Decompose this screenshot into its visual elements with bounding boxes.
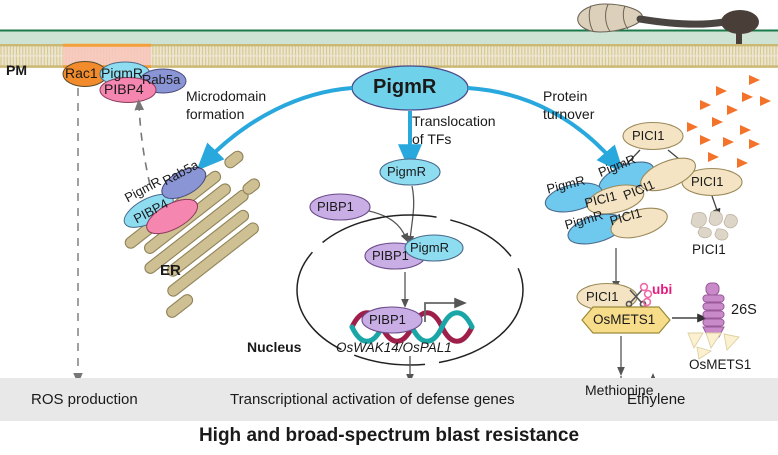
degraded-osmets1-label: OsMETS1 — [689, 357, 751, 372]
cyto-pigmr-label[interactable]: PigmR — [387, 164, 426, 179]
osmets1-label[interactable]: OsMETS1 — [593, 312, 655, 327]
dna-bound-pibp1-label[interactable]: PIBP1 — [369, 312, 406, 327]
nuclear-pigmr-label[interactable]: PigmR — [410, 240, 449, 255]
nuclear-pibp1-label[interactable]: PIBP1 — [372, 248, 409, 263]
bottom-pici1-label[interactable]: PICI1 — [586, 289, 619, 304]
er-recycling-dashed-arrow — [139, 105, 150, 185]
er-label: ER — [160, 262, 181, 279]
effector-triangles — [687, 75, 771, 180]
germ-tube — [640, 19, 724, 24]
branch-center-line2: of TFs — [412, 131, 451, 147]
degraded-pici1-label: PICI1 — [692, 242, 726, 257]
hub-pigmr-label: PigmR — [373, 76, 436, 99]
pm-node-pibp4[interactable]: PIBP4 — [104, 81, 144, 97]
pm-node-rac1[interactable]: Rac1 — [65, 65, 98, 81]
free-pici1-right-label[interactable]: PICI1 — [691, 174, 724, 189]
proteasome-26s-icon — [703, 283, 724, 337]
degraded-osmets1-fragments — [688, 333, 739, 359]
branch-center-line1: Translocation — [412, 113, 496, 129]
pm-label: PM — [6, 62, 27, 78]
outcome-ros: ROS production — [31, 391, 138, 408]
nucleus-label: Nucleus — [247, 339, 301, 355]
figure-canvas: PM PigmR Microdomain formation Transloca… — [0, 0, 778, 455]
figure-bottom-title: High and broad-spectrum blast resistance — [0, 425, 778, 447]
pm-node-rab5a[interactable]: Rab5a — [142, 72, 180, 87]
free-pici1-top-label[interactable]: PICI1 — [632, 128, 665, 143]
pm-node-pigmr[interactable]: PigmR — [101, 65, 143, 81]
outcome-ethylene: Ethylene — [627, 391, 685, 408]
branch-left-line2: formation — [186, 106, 244, 122]
target-genes-label: OsWAK14/OsPAL1 — [336, 340, 452, 355]
free-pibp1-label[interactable]: PIBP1 — [317, 199, 354, 214]
proteasome-26s-label: 26S — [731, 302, 757, 318]
pathogen-spore — [578, 4, 643, 32]
degraded-pici1-fragments — [691, 211, 737, 240]
branch-left-line1: Microdomain — [186, 88, 266, 104]
branch-right-line2: turnover — [543, 106, 594, 122]
pici1-degradation-arrow — [712, 196, 718, 213]
ubi-label: ubi — [652, 282, 672, 297]
apoplast-region — [0, 30, 778, 44]
pigmr-to-nucleus-arrow — [410, 186, 414, 240]
outcome-transcription: Transcriptional activation of defense ge… — [230, 391, 515, 408]
branch-right-line1: Protein — [543, 88, 587, 104]
